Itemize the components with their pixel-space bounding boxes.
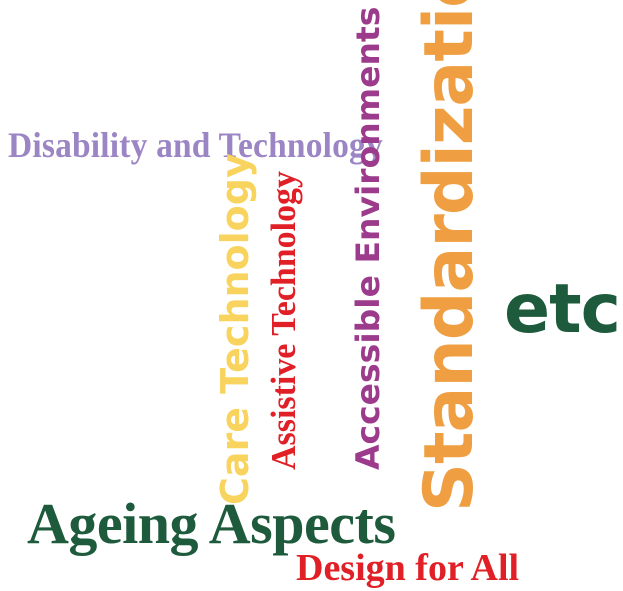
word-cloud-canvas: Disability and Technology Care Technolog… [0, 0, 623, 591]
word-disability-and-technology: Disability and Technology [8, 127, 383, 163]
word-standardization: Standardization [416, 0, 484, 512]
word-etc: etc. [504, 276, 623, 344]
word-ageing-aspects: Ageing Aspects [27, 495, 395, 553]
word-assistive-technology: Assistive Technology [266, 171, 301, 470]
word-design-for-all: Design for All [296, 549, 519, 587]
word-care-technology: Care Technology [216, 153, 254, 505]
word-accessible-environments: Accessible Environments [352, 7, 384, 470]
